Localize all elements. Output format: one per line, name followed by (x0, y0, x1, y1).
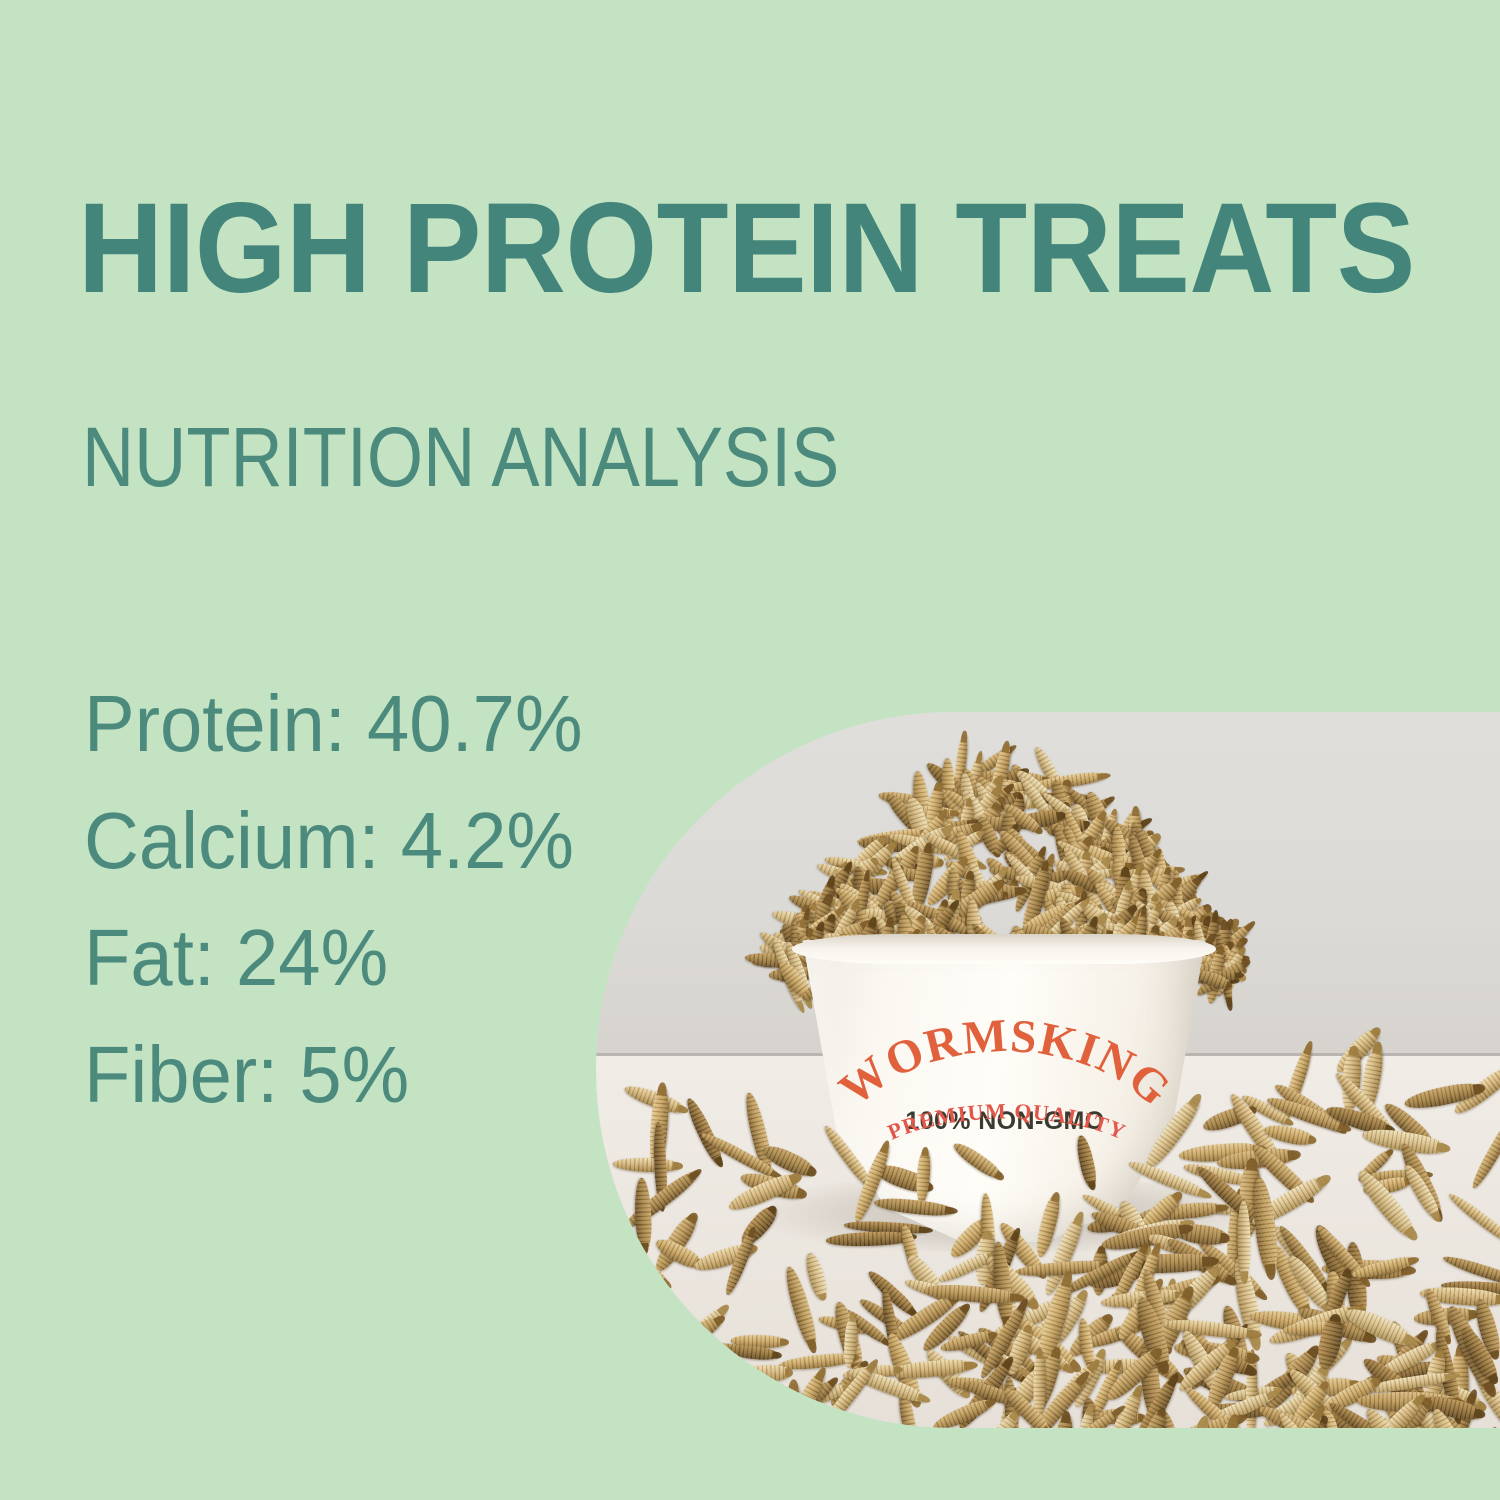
larva (813, 1359, 879, 1428)
nutrition-item-fat: Fat: 24% (84, 899, 673, 1016)
larva (1138, 1407, 1171, 1428)
infographic-canvas: HIGH PROTEIN TREATS NUTRITION ANALYSIS P… (0, 0, 1500, 1500)
larvae-scatter-front (596, 1132, 1500, 1428)
larva (939, 1329, 996, 1356)
larva (1103, 1345, 1166, 1406)
page-title: HIGH PROTEIN TREATS (78, 185, 1415, 313)
page-subtitle: NUTRITION ANALYSIS (82, 415, 839, 499)
larva (845, 1419, 898, 1428)
nutrition-item-fiber: Fiber: 5% (84, 1016, 673, 1133)
larva (1350, 1253, 1418, 1281)
product-photo-scene: WORMSKING 100% NON-GMO PREMIUM QUALITY (596, 712, 1500, 1428)
product-photo: WORMSKING 100% NON-GMO PREMIUM QUALITY (596, 712, 1500, 1428)
bowl-rim (792, 934, 1216, 964)
larva (843, 1314, 860, 1368)
larva (1250, 1176, 1281, 1277)
larva (781, 1383, 803, 1428)
nutrition-item-protein: Protein: 40.7% (84, 665, 673, 782)
nutrition-item-calcium: Calcium: 4.2% (84, 782, 673, 899)
